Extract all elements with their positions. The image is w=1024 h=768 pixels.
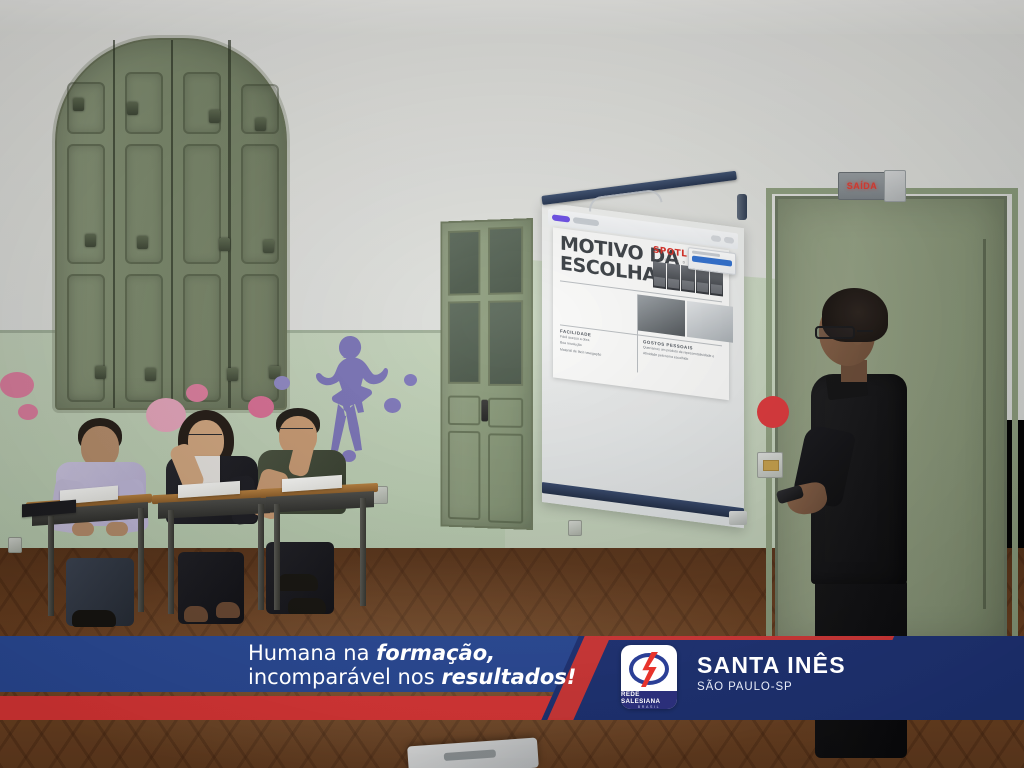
toolbar-icon[interactable] (711, 235, 721, 242)
banner-red-chevron-top (592, 636, 907, 640)
slide-column-divider (637, 294, 638, 372)
logo-network-name: REDE SALESIANA (621, 691, 677, 705)
ceiling (0, 0, 1024, 34)
logo-network-sub: BRASIL (638, 705, 660, 709)
glasses (279, 428, 313, 432)
presenter-glasses (815, 326, 855, 339)
projector-screen[interactable]: MOTIVO DA ESCOLHA SPOTLIGHT S E G R E D … (540, 186, 750, 536)
banner-tagline: Humana na formação, incomparável nos res… (248, 642, 578, 689)
student-desk (152, 492, 274, 616)
door-glass-pane (488, 300, 523, 386)
exit-sign: SAÍDA (838, 172, 886, 200)
wall-outlet[interactable] (8, 537, 22, 553)
mural-dot (274, 376, 290, 390)
mural-dot (186, 384, 208, 402)
school-name: SANTA INÊS (697, 652, 846, 679)
door-glass-pane (448, 230, 480, 296)
slide-image-right (687, 301, 733, 343)
projected-slide: MOTIVO DA ESCOLHA SPOTLIGHT S E G R E D … (542, 202, 744, 528)
app-brand-chip (552, 214, 570, 222)
app-menu-chip (573, 217, 599, 226)
mural-dot (18, 404, 38, 420)
classroom-presentation-photo: SAÍDA MOTIVO DA ESCOLHA SPOTLIGHT S E G (0, 0, 1024, 768)
slide-image-left (637, 294, 685, 336)
school-location: SÃO PAULO-SP (697, 681, 846, 693)
door-handle[interactable] (481, 400, 488, 422)
toolbar-icon[interactable] (724, 237, 734, 244)
logo-nameplate: REDE SALESIANA BRASIL (621, 691, 677, 709)
mural-dot (404, 374, 417, 386)
tagline-line1: Humana na formação, (248, 642, 578, 666)
door-glass-pane (448, 301, 480, 384)
glasses (188, 434, 222, 438)
student-desk (26, 498, 152, 618)
door-seam (983, 239, 986, 609)
school-identity: SANTA INÊS SÃO PAULO-SP (697, 652, 846, 693)
rede-salesiana-logo: REDE SALESIANA BRASIL (621, 645, 677, 709)
screen-roller-housing (737, 194, 747, 220)
screen-wall-bracket (729, 511, 747, 525)
tagline-line2: incomparável nos resultados! (248, 666, 578, 690)
exit-sign-label: SAÍDA (847, 181, 878, 191)
mural-dot (0, 372, 34, 398)
student-desk (260, 486, 378, 612)
light-switch[interactable] (757, 452, 783, 478)
classroom-door-center[interactable] (440, 218, 533, 530)
door-glass-pane (488, 226, 523, 295)
wall-accent-dot (757, 396, 789, 428)
shutter-body (55, 38, 287, 410)
window-shutters[interactable] (55, 38, 287, 410)
popup-present-button[interactable] (692, 255, 732, 266)
exit-sign-housing (884, 170, 906, 202)
